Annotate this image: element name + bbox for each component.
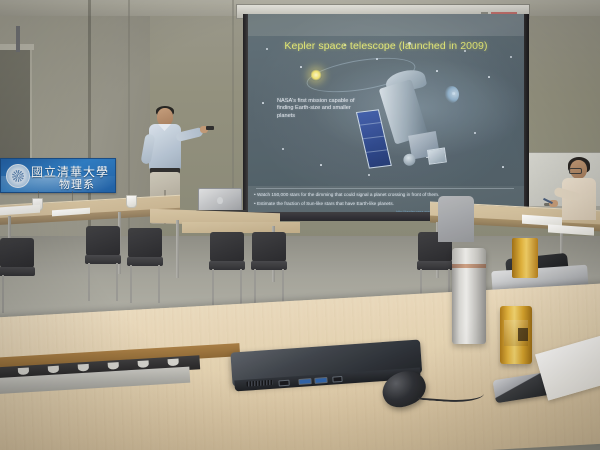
table-leg (176, 220, 179, 278)
yellow-box-right (512, 238, 538, 278)
seated-attendee-mid (438, 196, 474, 242)
presentation-clicker (206, 126, 214, 130)
laptop-logo-icon (217, 197, 223, 204)
chair-leg (2, 275, 4, 313)
chair-leg (130, 265, 132, 303)
thermos-ring (452, 264, 486, 268)
kepler-spacecraft-graphic (353, 56, 476, 175)
slide-divider (256, 188, 514, 189)
doorway (0, 48, 32, 160)
lecture-room-photo: Kepler space telescope (launched in 2009… (0, 0, 600, 450)
chair-leg (282, 269, 284, 305)
screen-frame-right (524, 14, 529, 210)
coffee-cup (126, 195, 137, 208)
presentation-slide: Kepler space telescope (launched in 2009… (248, 14, 524, 216)
chair-leg (116, 263, 118, 301)
spacecraft-module (427, 147, 447, 164)
presenter-shirt (149, 124, 181, 170)
chair-leg (254, 269, 256, 305)
slide-caption: NASA's first mission capable of finding … (277, 98, 363, 120)
sun-graphic (310, 69, 322, 81)
seated-attendee-right (558, 160, 600, 232)
chair-leg (240, 269, 242, 305)
laptop-port (332, 376, 342, 383)
chair-back (210, 232, 244, 262)
chair-leg (88, 263, 90, 301)
thermos-flask (452, 248, 486, 344)
slide-title: Kepler space telescope (launched in 2009… (248, 40, 524, 52)
chair-seat (0, 267, 35, 276)
attendee-glasses-icon (569, 168, 582, 174)
slide-bullet: • Watch 150,000 stars for the dimming th… (254, 190, 520, 199)
laptop-port (278, 380, 289, 387)
department-banner: 國立清華大學 物理系 (0, 158, 116, 193)
spacecraft-dish (403, 153, 416, 166)
projection-screen: Kepler space telescope (launched in 2009… (248, 14, 524, 216)
banner-line-2: 物理系 (59, 176, 95, 192)
chair-back (86, 226, 120, 256)
chair-leg (158, 265, 160, 303)
chair-back (252, 232, 286, 262)
laptop-usb-port (298, 378, 311, 385)
chair-back (128, 228, 162, 258)
laptop-stand (16, 26, 20, 52)
attendee-torso (438, 196, 474, 242)
laptop-usb-port (314, 377, 327, 384)
seal-inner (12, 170, 24, 182)
university-seal-icon (6, 164, 30, 188)
wall-seam (232, 0, 234, 200)
chair-leg (212, 269, 214, 305)
chair-back (0, 238, 34, 268)
beverage-can (500, 306, 532, 364)
can-label-dark-block (518, 328, 528, 341)
